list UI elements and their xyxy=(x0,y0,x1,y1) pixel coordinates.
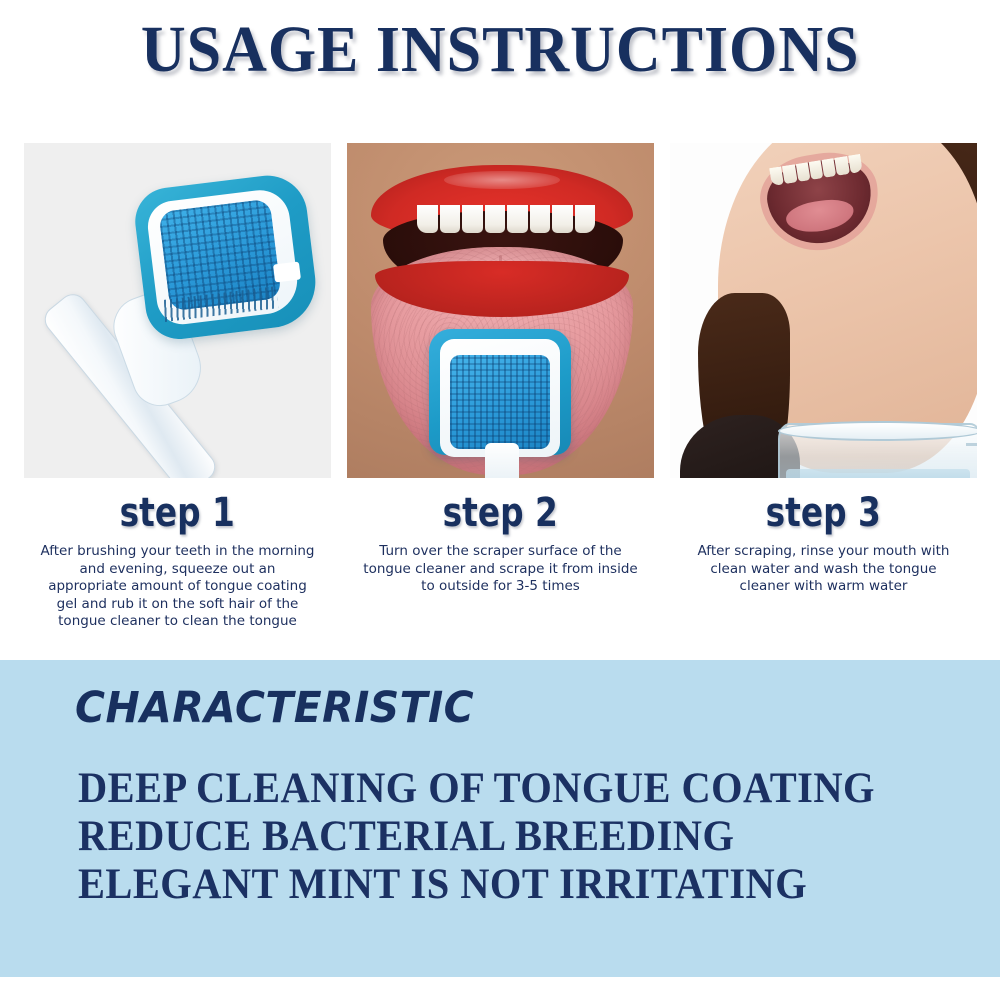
tooth xyxy=(417,205,438,233)
tooth xyxy=(552,205,573,233)
step-1-description: After brushing your teeth in the morning… xyxy=(40,543,315,631)
steps-row: step 1 After brushing your teeth in the … xyxy=(24,143,977,631)
bottom-white-strip xyxy=(0,977,1000,1000)
page-title-container: USAGE INSTRUCTIONS xyxy=(0,14,1000,86)
tooth xyxy=(835,156,850,176)
water-level xyxy=(786,469,970,478)
step-card-3: step 3 After scraping, rinse your mouth … xyxy=(670,143,977,631)
tooth xyxy=(507,205,528,233)
step-1-photo xyxy=(24,143,331,478)
tooth xyxy=(575,205,596,233)
cleaner-bristle-pad xyxy=(450,355,550,449)
tooth xyxy=(795,162,810,182)
upper-teeth xyxy=(417,205,595,233)
step-card-2: step 2 Turn over the scraper surface of … xyxy=(347,143,654,631)
step-3-label: step 3 xyxy=(766,490,881,536)
tooth xyxy=(462,205,483,233)
tooth xyxy=(782,164,797,184)
characteristic-title: CHARACTERISTIC xyxy=(75,684,474,732)
step-2-label: step 2 xyxy=(443,490,558,536)
glass-handle xyxy=(966,443,977,478)
glass-rim xyxy=(778,421,977,441)
characteristic-item: DEEP CLEANING OF TONGUE COATING xyxy=(78,765,905,813)
step-2-description: Turn over the scraper surface of the ton… xyxy=(363,543,638,596)
cleaner-frame-notch xyxy=(273,261,301,282)
step-3-photo xyxy=(670,143,977,478)
tooth xyxy=(485,205,506,233)
cleaner-handle xyxy=(485,443,519,478)
characteristic-item: REDUCE BACTERIAL BREEDING xyxy=(78,813,905,861)
step-card-1: step 1 After brushing your teeth in the … xyxy=(24,143,331,631)
step-3-description: After scraping, rinse your mouth with cl… xyxy=(686,543,961,596)
tooth xyxy=(530,205,551,233)
characteristic-section: CHARACTERISTIC DEEP CLEANING OF TONGUE C… xyxy=(0,660,1000,977)
step-1-label: step 1 xyxy=(120,490,235,536)
characteristic-item: ELEGANT MINT IS NOT IRRITATING xyxy=(78,861,905,909)
characteristic-list: DEEP CLEANING OF TONGUE COATING REDUCE B… xyxy=(78,765,958,909)
tooth xyxy=(440,205,461,233)
step-2-photo xyxy=(347,143,654,478)
page-title: USAGE INSTRUCTIONS xyxy=(141,14,860,86)
product-infographic: USAGE INSTRUCTIONS step 1 After brushing… xyxy=(0,0,1000,1000)
